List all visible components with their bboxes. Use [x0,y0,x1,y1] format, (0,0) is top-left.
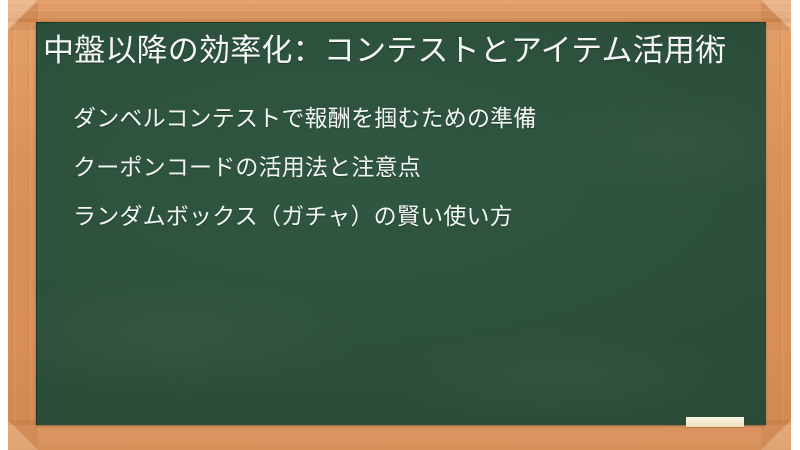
list-item: ランダムボックス（ガチャ）の賢い使い方 [73,192,740,241]
chalkboard-surface: 中盤以降の効率化：コンテストとアイテム活用術 ダンベルコンテストで報酬を掴むため… [36,22,766,425]
slide-title: 中盤以降の効率化：コンテストとアイテム活用術 [43,28,733,73]
slide-stage: 中盤以降の効率化：コンテストとアイテム活用術 ダンベルコンテストで報酬を掴むため… [0,0,800,450]
chalk-stick-icon [686,417,744,427]
slide-bullet-list: ダンベルコンテストで報酬を掴むための準備 クーポンコードの活用法と注意点 ランダ… [43,94,740,241]
list-item: クーポンコードの活用法と注意点 [73,143,740,192]
frame-top-rail [8,0,791,22]
slide-content: 中盤以降の効率化：コンテストとアイテム活用術 ダンベルコンテストで報酬を掴むため… [36,22,766,425]
list-item: ダンベルコンテストで報酬を掴むための準備 [73,94,740,143]
frame-bottom-ledge [8,425,791,450]
chalkboard-wooden-frame: 中盤以降の効率化：コンテストとアイテム活用術 ダンベルコンテストで報酬を掴むため… [8,0,791,450]
